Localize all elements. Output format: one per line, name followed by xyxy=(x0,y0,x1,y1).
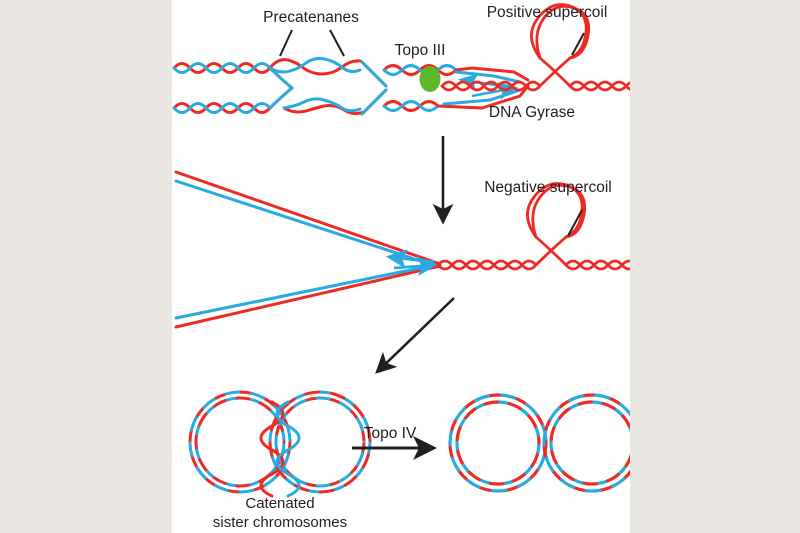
free-ring-left xyxy=(450,395,546,491)
decatenation-panel: Catenated sister chromosomes Topo IV xyxy=(190,392,630,531)
label-negative-supercoil: Negative supercoil xyxy=(484,179,612,196)
catenane-interlock xyxy=(261,402,299,496)
catenated-rings xyxy=(190,392,370,496)
label-dna-gyrase: DNA Gyrase xyxy=(489,104,575,121)
figure-root: Precatenanes Topo III Positive supercoil… xyxy=(0,0,800,533)
label-catenated-line2: sister chromosomes xyxy=(213,514,347,531)
free-ring-right xyxy=(544,395,630,491)
negative-supercoil-panel: Negative supercoil xyxy=(176,172,630,327)
precatenanes-leader-lines xyxy=(280,30,344,56)
fork-arms-middle xyxy=(176,172,440,327)
label-topo-iv: Topo IV xyxy=(364,425,417,442)
label-topo-iii: Topo III xyxy=(395,42,446,59)
label-precatenanes: Precatenanes xyxy=(263,9,359,26)
diagonal-step-arrow xyxy=(377,298,454,372)
negative-supercoil-duplex xyxy=(438,184,630,270)
label-positive-supercoil: Positive supercoil xyxy=(487,4,608,21)
precatenane-panel: Precatenanes Topo III Positive supercoil… xyxy=(174,4,630,121)
label-catenated-line1: Catenated xyxy=(245,495,314,512)
diagram-svg: Precatenanes Topo III Positive supercoil… xyxy=(172,0,630,533)
precatenanes xyxy=(174,59,456,115)
topo-iii-enzyme xyxy=(420,66,441,92)
figure-canvas: Precatenanes Topo III Positive supercoil… xyxy=(172,0,630,533)
